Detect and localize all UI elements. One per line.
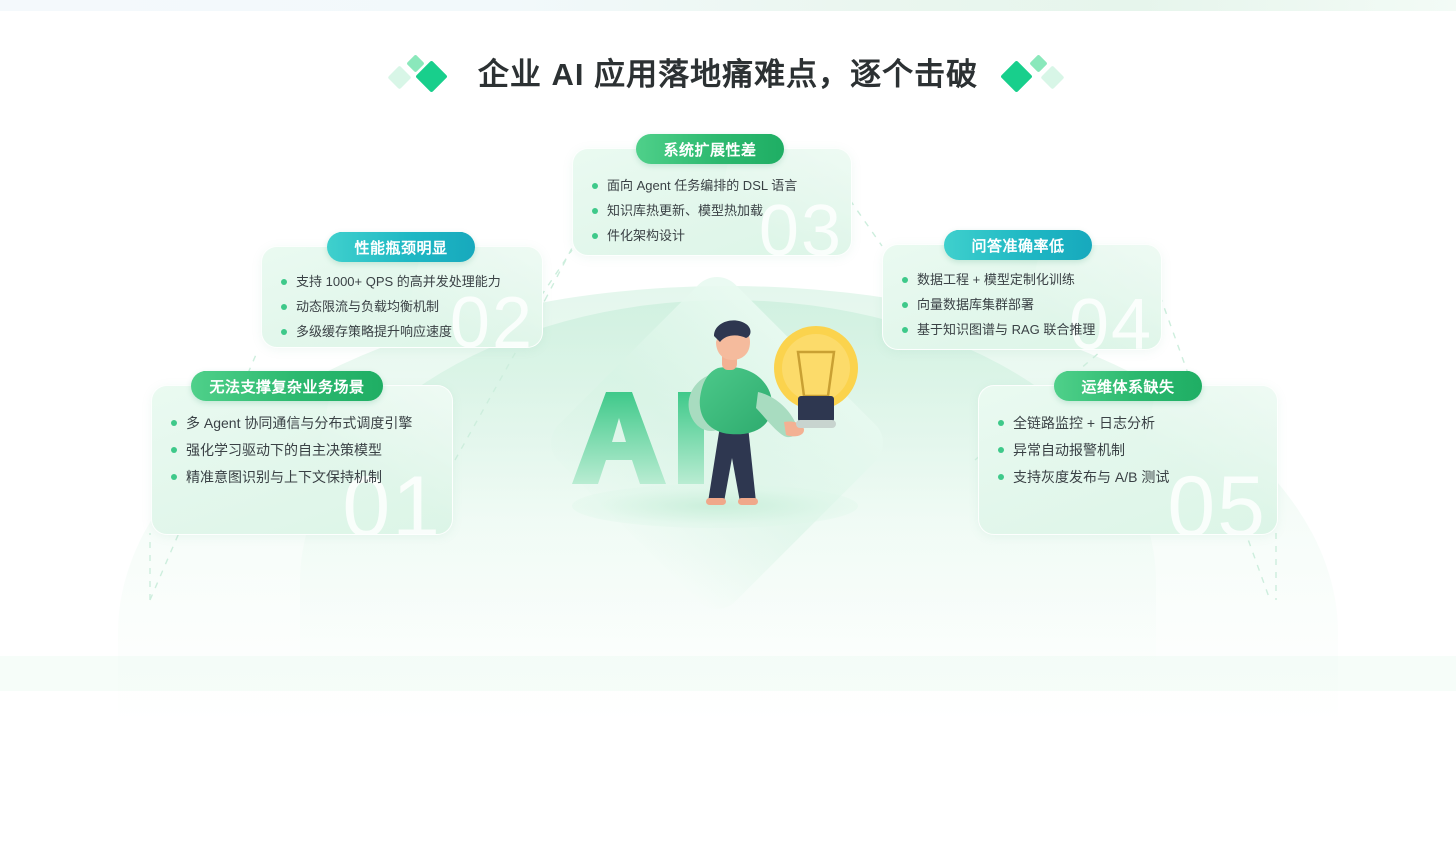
bullet-dot-icon [902, 327, 908, 333]
bullet-dot-icon [998, 420, 1004, 426]
list-item: 多级缓存策略提升响应速度 [281, 322, 527, 342]
bullet-dot-icon [902, 277, 908, 283]
card-03-bullets: 面向 Agent 任务编排的 DSL 语言 知识库热更新、模型热加载 件化架构设… [592, 176, 836, 251]
bullet-dot-icon [998, 447, 1004, 453]
diamond-icon [387, 65, 411, 89]
bullet-dot-icon [281, 329, 287, 335]
title-diamonds-right [1004, 55, 1066, 95]
list-item: 强化学习驱动下的自主决策模型 [171, 440, 437, 461]
list-item: 件化架构设计 [592, 226, 836, 246]
bullet-dot-icon [281, 304, 287, 310]
page-title-row: 企业 AI 应用落地痛难点，逐个击破 [0, 52, 1456, 98]
list-item: 面向 Agent 任务编排的 DSL 语言 [592, 176, 836, 196]
card-03[interactable]: 03 系统扩展性差 面向 Agent 任务编排的 DSL 语言 知识库热更新、模… [572, 148, 850, 254]
bullet-dot-icon [171, 474, 177, 480]
bullet-dot-icon [998, 474, 1004, 480]
card-05[interactable]: 05 运维体系缺失 全链路监控 + 日志分析 异常自动报警机制 支持灰度发布与 … [978, 385, 1276, 533]
bullet-text: 件化架构设计 [607, 226, 685, 246]
bullet-dot-icon [281, 279, 287, 285]
title-diamonds-left [390, 55, 452, 95]
list-item: 基于知识图谱与 RAG 联合推理 [902, 320, 1146, 340]
list-item: 精准意图识别与上下文保持机制 [171, 467, 437, 488]
bullet-text: 异常自动报警机制 [1013, 440, 1125, 461]
list-item: 多 Agent 协同通信与分布式调度引擎 [171, 413, 437, 434]
card-01[interactable]: 01 无法支撑复杂业务场景 多 Agent 协同通信与分布式调度引擎 强化学习驱… [151, 385, 451, 533]
bullet-text: 向量数据库集群部署 [917, 295, 1034, 315]
ai-illustration [562, 296, 882, 540]
bullet-text: 多 Agent 协同通信与分布式调度引擎 [186, 413, 412, 434]
bullet-dot-icon [171, 447, 177, 453]
bullet-dot-icon [592, 208, 598, 214]
bullet-text: 基于知识图谱与 RAG 联合推理 [917, 320, 1095, 340]
bullet-dot-icon [171, 420, 177, 426]
card-05-bullets: 全链路监控 + 日志分析 异常自动报警机制 支持灰度发布与 A/B 测试 [998, 413, 1262, 494]
list-item: 数据工程 + 模型定制化训练 [902, 270, 1146, 290]
bullet-text: 精准意图识别与上下文保持机制 [186, 467, 382, 488]
card-04-title[interactable]: 问答准确率低 [944, 230, 1092, 260]
list-item: 知识库热更新、模型热加载 [592, 201, 836, 221]
card-05-title[interactable]: 运维体系缺失 [1054, 371, 1202, 401]
bullet-text: 全链路监控 + 日志分析 [1013, 413, 1155, 434]
bullet-dot-icon [592, 233, 598, 239]
card-02[interactable]: 02 性能瓶颈明显 支持 1000+ QPS 的高并发处理能力 动态限流与负载均… [261, 246, 541, 346]
card-03-title[interactable]: 系统扩展性差 [636, 134, 784, 164]
card-01-bullets: 多 Agent 协同通信与分布式调度引擎 强化学习驱动下的自主决策模型 精准意图… [171, 413, 437, 494]
list-item: 支持 1000+ QPS 的高并发处理能力 [281, 272, 527, 292]
list-item: 全链路监控 + 日志分析 [998, 413, 1262, 434]
card-01-title[interactable]: 无法支撑复杂业务场景 [191, 371, 383, 401]
bullet-text: 动态限流与负载均衡机制 [296, 297, 439, 317]
diamond-icon [1029, 54, 1047, 72]
card-04[interactable]: 04 问答准确率低 数据工程 + 模型定制化训练 向量数据库集群部署 基于知识图… [882, 244, 1160, 348]
list-item: 动态限流与负载均衡机制 [281, 297, 527, 317]
card-02-title[interactable]: 性能瓶颈明显 [327, 232, 475, 262]
diamond-icon [1041, 65, 1065, 89]
bullet-dot-icon [902, 302, 908, 308]
infographic-stage: 企业 AI 应用落地痛难点，逐个击破 [0, 0, 1456, 691]
bullet-text: 强化学习驱动下的自主决策模型 [186, 440, 382, 461]
card-04-bullets: 数据工程 + 模型定制化训练 向量数据库集群部署 基于知识图谱与 RAG 联合推… [902, 270, 1146, 345]
list-item: 异常自动报警机制 [998, 440, 1262, 461]
page-title: 企业 AI 应用落地痛难点，逐个击破 [478, 52, 978, 98]
list-item: 向量数据库集群部署 [902, 295, 1146, 315]
bullet-text: 知识库热更新、模型热加载 [607, 201, 763, 221]
card-02-bullets: 支持 1000+ QPS 的高并发处理能力 动态限流与负载均衡机制 多级缓存策略… [281, 272, 527, 347]
diamond-icon [1000, 60, 1033, 93]
bullet-dot-icon [592, 183, 598, 189]
bullet-text: 多级缓存策略提升响应速度 [296, 322, 452, 342]
bullet-text: 支持灰度发布与 A/B 测试 [1013, 467, 1169, 488]
bullet-text: 面向 Agent 任务编排的 DSL 语言 [607, 176, 797, 196]
ai-letters-icon [572, 392, 704, 484]
bullet-text: 数据工程 + 模型定制化训练 [917, 270, 1075, 290]
list-item: 支持灰度发布与 A/B 测试 [998, 467, 1262, 488]
bullet-text: 支持 1000+ QPS 的高并发处理能力 [296, 272, 501, 292]
